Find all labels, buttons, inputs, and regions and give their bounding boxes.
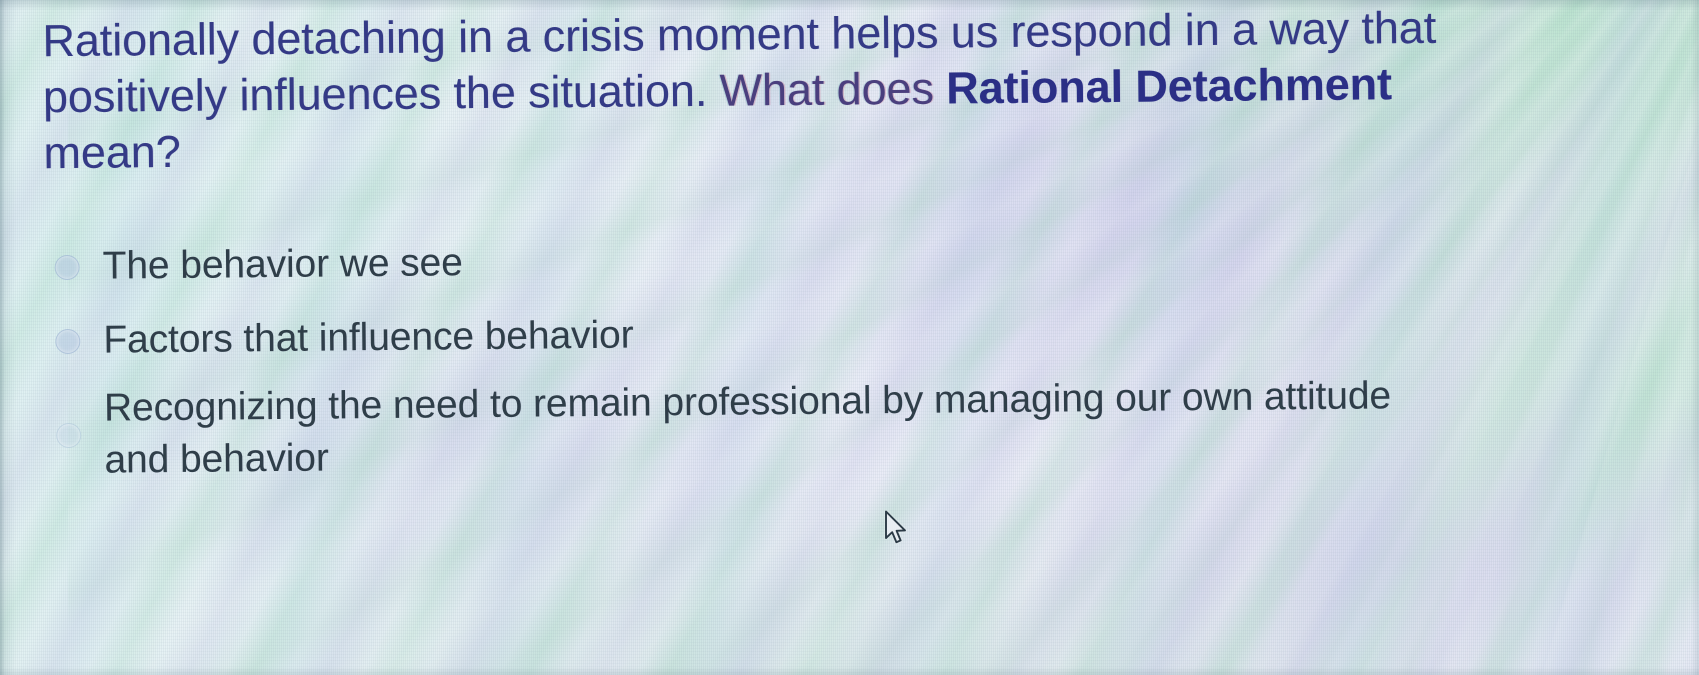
answer-option-label-2: Factors that influence behavior: [103, 310, 634, 367]
question-text-emphasis: What does: [719, 63, 946, 116]
question-key-term: Rational Detachment: [946, 58, 1392, 113]
radio-button-icon-1[interactable]: [54, 254, 79, 279]
answer-option-label-3-line-2: and behavior: [104, 422, 1392, 486]
answer-option-label-1: The behavior we see: [102, 237, 463, 292]
quiz-screen-photo: Rationally detaching in a crisis moment …: [0, 0, 1699, 675]
question-text-part2: mean?: [43, 126, 181, 178]
answer-option-label-3: Recognizing the need to remain professio…: [104, 370, 1392, 486]
answer-option-2[interactable]: Factors that influence behavior: [53, 293, 1524, 375]
answer-option-1[interactable]: The behavior we see: [52, 219, 1523, 301]
question-prompt: Rationally detaching in a crisis moment …: [42, 0, 1524, 181]
radio-button-icon-2[interactable]: [55, 328, 80, 353]
answer-option-3[interactable]: Recognizing the need to remain professio…: [54, 367, 1525, 489]
answer-options-list: The behavior we see Factors that influen…: [52, 219, 1524, 495]
radio-button-icon-3[interactable]: [56, 422, 81, 447]
quiz-content: Rationally detaching in a crisis moment …: [0, 0, 1699, 675]
